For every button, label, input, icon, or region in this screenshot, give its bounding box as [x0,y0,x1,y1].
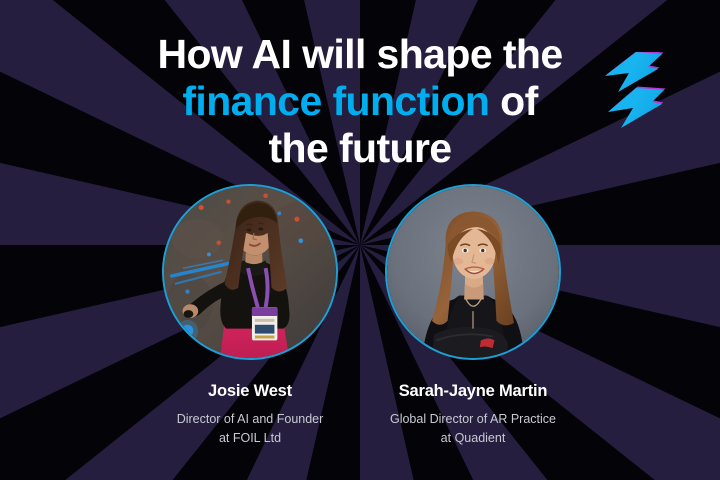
avatar-wrap-0 [162,184,338,360]
lightning-bolt-lower [608,87,666,129]
speaker-role: Director of AI and Founder at FOIL Ltd [130,410,370,449]
speaker-role-line-2: at Quadient [353,429,593,448]
avatar-wrap-1 [385,184,561,360]
speaker-photo-1 [387,186,559,358]
speaker-role: Global Director of AR Practice at Quadie… [353,410,593,449]
promo-card: How AI will shape the finance function o… [0,0,720,480]
lightning-bolt-upper [605,52,664,92]
speaker-photo-0 [164,186,336,358]
speaker-role-line-1: Global Director of AR Practice [390,412,556,426]
bolt-lower-body [608,88,664,128]
speaker-role-line-1: Director of AI and Founder [177,412,324,426]
speaker-role-line-2: at FOIL Ltd [130,429,370,448]
speaker-name: Sarah-Jayne Martin [353,382,593,401]
speaker-card-1: Sarah-Jayne Martin Global Director of AR… [353,184,593,449]
avatar [385,184,561,360]
avatar [162,184,338,360]
speaker-name: Josie West [130,382,370,401]
bolt-upper-body [605,52,662,92]
lightning-bolt-icon [596,52,666,132]
speaker-card-0: Josie West Director of AI and Founder at… [130,184,370,449]
